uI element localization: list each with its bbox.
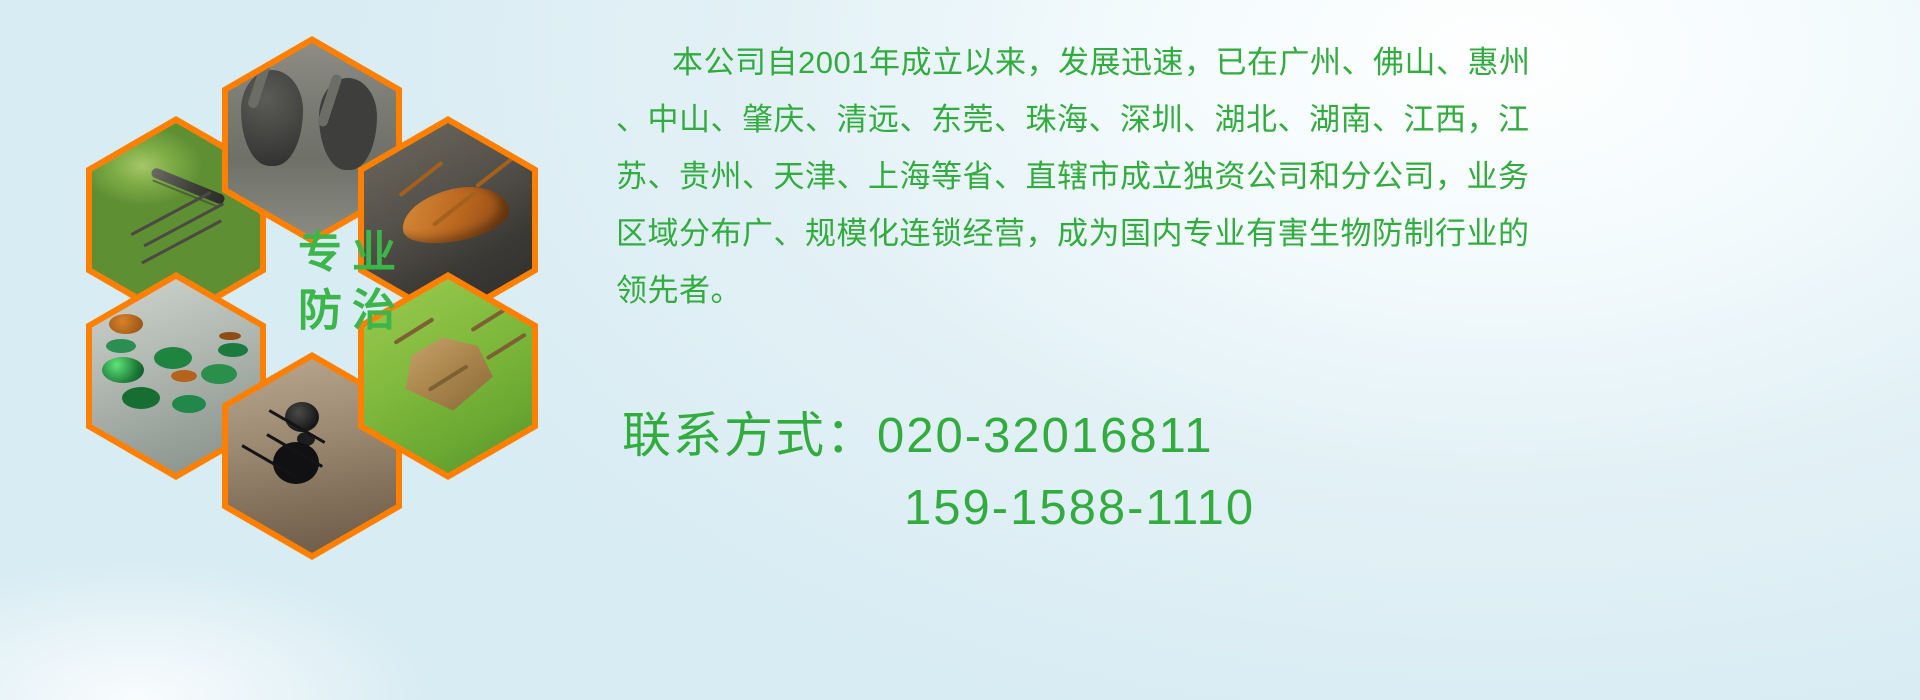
contact-label: 联系方式： [622, 409, 877, 463]
contact-phone-secondary[interactable]: 159-1588-1110 [904, 481, 1255, 535]
intro-line-3: 苏、贵州、天津、上海等省、直辖市成立独资公司和分公司，业务 [616, 148, 1916, 205]
hexagon-collage: 专业 防治 [86, 10, 606, 570]
promo-banner: 专业 防治 本公司自2001年成立以来，发展迅速，已在广州、佛山、惠州 、中山、… [0, 0, 1920, 700]
contact-primary-line: 联系方式：020-32016811 [622, 400, 1920, 472]
intro-line-1-text: 本公司自2001年成立以来，发展迅速，已在广州、佛山、惠州 [672, 45, 1530, 80]
intro-line-4: 区域分布广、规模化连锁经营，成为国内专业有害生物防制行业的 [616, 205, 1916, 262]
company-intro: 本公司自2001年成立以来，发展迅速，已在广州、佛山、惠州 、中山、肇庆、清远、… [616, 34, 1916, 319]
stink-bug-icon [364, 279, 532, 473]
intro-line-5: 领先者。 [616, 262, 1916, 319]
contact-secondary-line: 159-1588-1110 [622, 472, 1920, 544]
intro-line-2: 、中山、肇庆、清远、东莞、珠海、深圳、湖北、湖南、江西，江 [616, 91, 1916, 148]
contact-block: 联系方式：020-32016811 159-1588-1110 [622, 400, 1920, 544]
hex-tile-stink-bug-frame [364, 279, 532, 473]
intro-line-1: 本公司自2001年成立以来，发展迅速，已在广州、佛山、惠州 [616, 34, 1916, 91]
contact-phone-primary[interactable]: 020-32016811 [877, 409, 1213, 463]
